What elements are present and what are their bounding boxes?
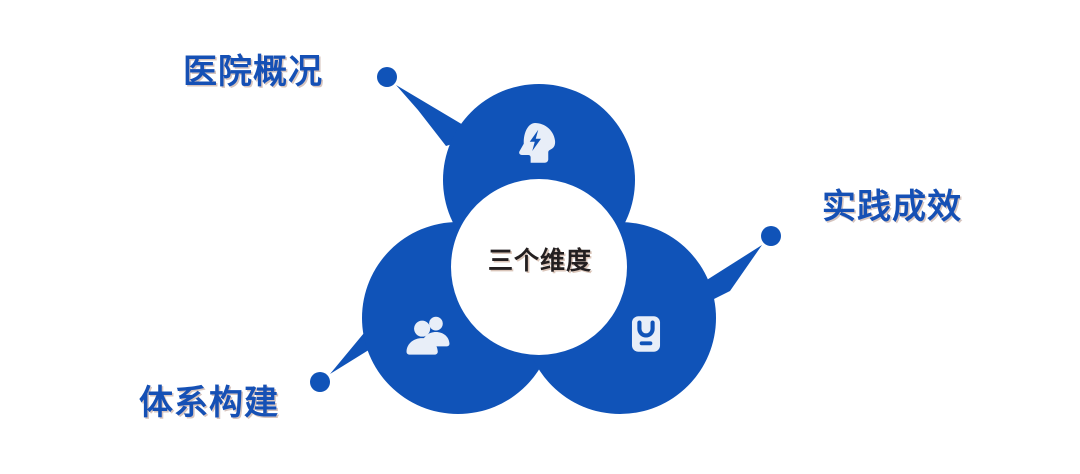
- label-practice-results[interactable]: 实践成效: [822, 190, 962, 224]
- label-system-building[interactable]: 体系构建: [139, 386, 279, 420]
- badge-icon: [632, 316, 660, 351]
- diagram-canvas: 医院概况 实践成效 体系构建 三个维度: [0, 0, 1080, 474]
- dot-hospital-overview[interactable]: [377, 67, 397, 87]
- dot-system-building[interactable]: [310, 372, 330, 392]
- label-hospital-overview[interactable]: 医院概况: [183, 55, 323, 89]
- dot-practice-results[interactable]: [761, 226, 781, 246]
- center-circle-label: 三个维度: [470, 249, 610, 274]
